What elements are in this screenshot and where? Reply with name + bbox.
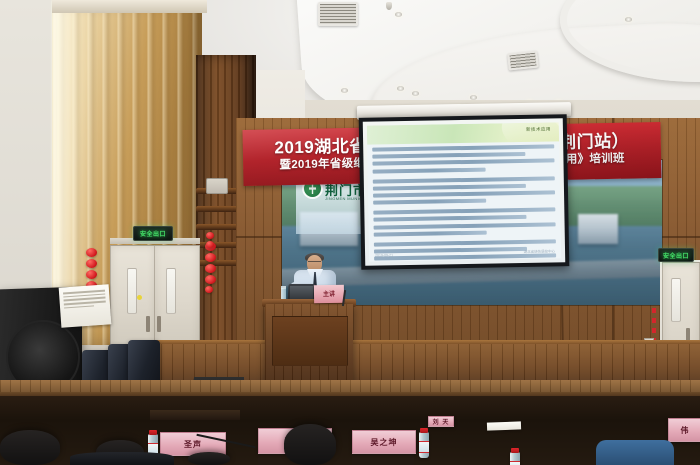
door-sticker-icon [137,295,142,300]
slide-text-line [373,199,486,205]
downlight-icon [341,88,348,93]
red-lantern [86,259,97,268]
slide-text-line [374,222,556,229]
namecard: 伟 [668,418,700,442]
red-lantern [86,270,97,279]
water-bottle [510,452,520,465]
door-right-leaf[interactable] [154,245,200,352]
slide-text-line [372,144,554,151]
slide-text-line [374,239,556,246]
posted-notice-paper [59,284,112,327]
namecard: 吴之坤 [352,430,416,454]
door-handle[interactable] [146,316,150,332]
stacked-chair[interactable] [128,340,160,384]
bottle-label [419,441,429,453]
red-lantern [205,253,216,262]
podium-name-sign-label: 主讲 [316,289,342,298]
curtain-rod [52,0,207,13]
slide-text-line [372,159,554,166]
bottle-label [510,461,520,465]
door-glass-panel [127,268,137,314]
bottle-cap [420,428,428,433]
paper-on-table [487,421,521,430]
projection-screen-surface: 新技术应用 [363,118,565,265]
red-lantern [86,248,97,257]
exit-sign-label: 安全出口 [140,229,166,238]
downlight-icon [625,17,632,22]
red-lantern [206,241,214,248]
slide-text-line [373,190,555,197]
lantern-strand-right [206,232,217,250]
air-vent-icon [318,2,358,26]
slide-body-text [372,144,556,247]
slide-text-line [372,152,525,159]
exit-sign-right: 安全出口 [658,248,694,262]
notice-line [64,305,94,309]
presentation-slide: 新技术应用 [367,122,561,261]
door-glass-panel [671,278,681,322]
exit-sign-left: 安全出口 [133,226,173,241]
red-lantern [206,232,214,239]
projection-screen: 新技术应用 [359,114,570,270]
slide-footer-left: 2019-09-21 [375,253,393,257]
water-bottle [419,432,429,458]
slide-text-line [373,176,555,183]
red-lantern [205,264,216,273]
slide-text-line [373,215,526,222]
downlight-icon [395,12,402,17]
slide-text-line [373,184,526,191]
door-glass-panel [166,268,176,314]
attendee-head [0,430,60,465]
podium-front-panel [272,316,348,366]
slide-text-line [373,208,555,215]
slide-text-line [374,247,527,254]
slide-header-text: 新技术应用 [526,126,551,132]
slide-footer-right: 湖北省烧伤质控中心 [524,249,556,255]
slide-text-line [373,167,486,173]
attendee-head [188,452,230,465]
notice-line [64,301,106,305]
second-row-table [150,410,240,420]
slide-header-band: 新技术应用 [367,122,559,144]
door-handle[interactable] [157,316,161,332]
slide-text-line [374,230,487,236]
namecard-far: 刘 天 [428,416,454,427]
conference-hall-photo: 荆门市 JINGMEN MUNICIPAL PEOPLE'S HOSPITAL … [0,0,700,465]
bottle-cap [149,430,157,435]
downlight-icon [397,86,404,91]
audience-chair[interactable] [596,440,674,465]
exit-sign-label: 安全出口 [663,251,689,260]
sprinkler-icon [386,2,392,10]
red-lantern [205,275,216,284]
bottle-cap [511,448,519,453]
downlight-icon [412,91,419,96]
attendee-shoulders [70,452,174,465]
speaker-glasses-icon [308,261,321,265]
attendee-head [284,424,336,465]
air-vent-icon [507,50,539,70]
red-lantern [205,286,213,293]
wall-speaker-box [206,178,228,194]
laptop-screen [290,286,313,299]
